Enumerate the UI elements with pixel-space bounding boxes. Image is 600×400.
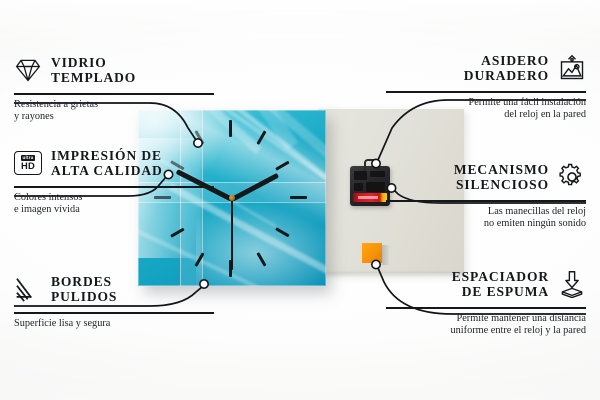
- feature-description: Permite mantener una distanciauniforme e…: [386, 313, 586, 338]
- feature-divider: [386, 307, 586, 309]
- mechanism-detail: [354, 171, 367, 180]
- feature-header: ASIDERODURADERO: [386, 48, 586, 88]
- ultra-hd-icon: ultra HD: [14, 151, 42, 175]
- hour-tick: [275, 161, 289, 171]
- feature-header: BORDESPULIDOS: [14, 269, 214, 309]
- feature-title: VIDRIOTEMPLADO: [51, 55, 214, 85]
- foam-spacer: [362, 243, 382, 263]
- feature-asidero-duradero: ASIDERODURADERO Permite una fácil instal…: [386, 48, 586, 121]
- feature-divider: [14, 312, 214, 314]
- ultra-hd-icon-large-text: HD: [21, 161, 35, 171]
- feature-description: Las manecillas del relojno emiten ningún…: [386, 206, 586, 231]
- feature-description: Resistencia a grietasy rayones: [14, 99, 214, 124]
- clock-center-cap: [229, 195, 235, 201]
- battery: [353, 193, 387, 202]
- feature-title: ASIDERODURADERO: [386, 53, 549, 83]
- picture-hanger-icon: [558, 54, 586, 82]
- feature-divider: [14, 93, 214, 95]
- feature-title: ESPACIADORDE ESPUMA: [386, 269, 549, 299]
- feature-divider: [386, 200, 586, 202]
- feature-divider: [386, 91, 586, 93]
- polished-edges-icon: [14, 275, 42, 303]
- mechanism-hanger-loop: [364, 159, 380, 171]
- infographic-canvas: VIDRIOTEMPLADO Resistencia a grietasy ra…: [0, 0, 600, 400]
- feature-header: ultra HD IMPRESIÓN DEALTA CALIDAD: [14, 143, 214, 183]
- feature-description: Superficie lisa y segura: [14, 318, 214, 330]
- gear-icon: [558, 163, 586, 191]
- feature-title: MECANISMOSILENCIOSO: [386, 162, 549, 192]
- feature-vidrio-templado: VIDRIOTEMPLADO Resistencia a grietasy ra…: [14, 50, 214, 123]
- mechanism-detail: [366, 182, 385, 192]
- mechanism-detail: [370, 171, 385, 177]
- hour-tick: [229, 120, 232, 137]
- mechanism-detail: [354, 183, 363, 191]
- hour-tick: [290, 196, 307, 199]
- feature-espaciador-espuma: ESPACIADORDE ESPUMA Permite mantener una…: [386, 264, 586, 337]
- feature-title: IMPRESIÓN DEALTA CALIDAD: [51, 148, 214, 178]
- feature-description: Colores intensose imagen vívida: [14, 192, 214, 217]
- feature-header: MECANISMOSILENCIOSO: [386, 157, 586, 197]
- foam-spacer-shadow: [382, 245, 389, 265]
- diamond-icon: [14, 56, 42, 84]
- feature-impresion-alta-calidad: ultra HD IMPRESIÓN DEALTA CALIDAD Colore…: [14, 143, 214, 216]
- battery-label: [358, 196, 378, 199]
- feature-mecanismo-silencioso: MECANISMOSILENCIOSO Las manecillas del r…: [386, 157, 586, 230]
- feature-bordes-pulidos: BORDESPULIDOS Superficie lisa y segura: [14, 269, 214, 330]
- clock-mechanism: [350, 166, 390, 206]
- feature-divider: [14, 186, 214, 188]
- feature-header: VIDRIOTEMPLADO: [14, 50, 214, 90]
- feature-header: ESPACIADORDE ESPUMA: [386, 264, 586, 304]
- feature-title: BORDESPULIDOS: [51, 274, 214, 304]
- second-hand: [231, 198, 233, 270]
- foam-spacer-icon: [558, 270, 586, 298]
- feature-description: Permite una fácil instalacióndel reloj e…: [386, 97, 586, 122]
